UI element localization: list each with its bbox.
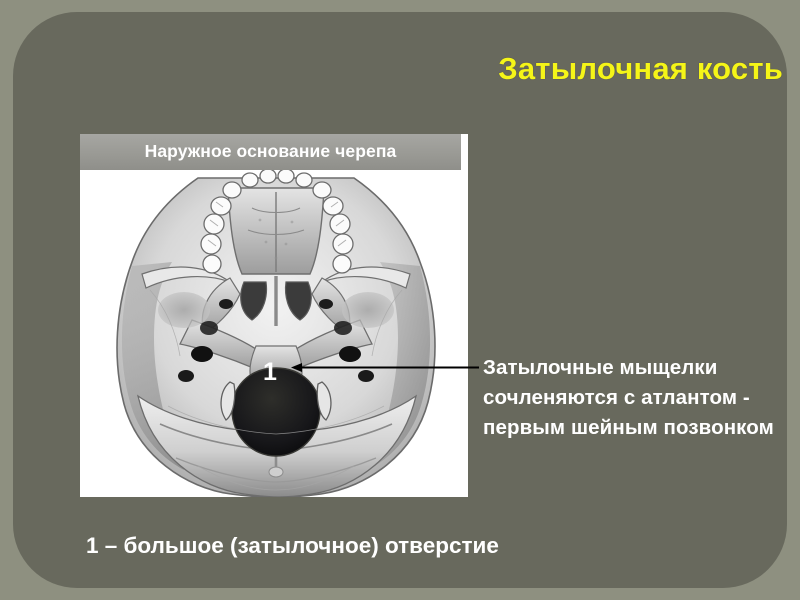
slide-inner-panel: Затылочная кость Наружное основание чере… bbox=[13, 12, 787, 588]
legend-text: 1 – большое (затылочное) отверстие bbox=[86, 532, 499, 559]
figure-caption: Наружное основание черепа bbox=[80, 134, 461, 170]
leader-line bbox=[291, 352, 481, 384]
page-title: Затылочная кость bbox=[313, 52, 783, 86]
slide: Затылочная кость Наружное основание чере… bbox=[0, 0, 800, 600]
annotation-text: Затылочные мыщелки сочленяются с атланто… bbox=[483, 353, 783, 443]
skull-base-illustration bbox=[80, 170, 468, 497]
figure-panel: Наружное основание черепа bbox=[80, 134, 468, 497]
